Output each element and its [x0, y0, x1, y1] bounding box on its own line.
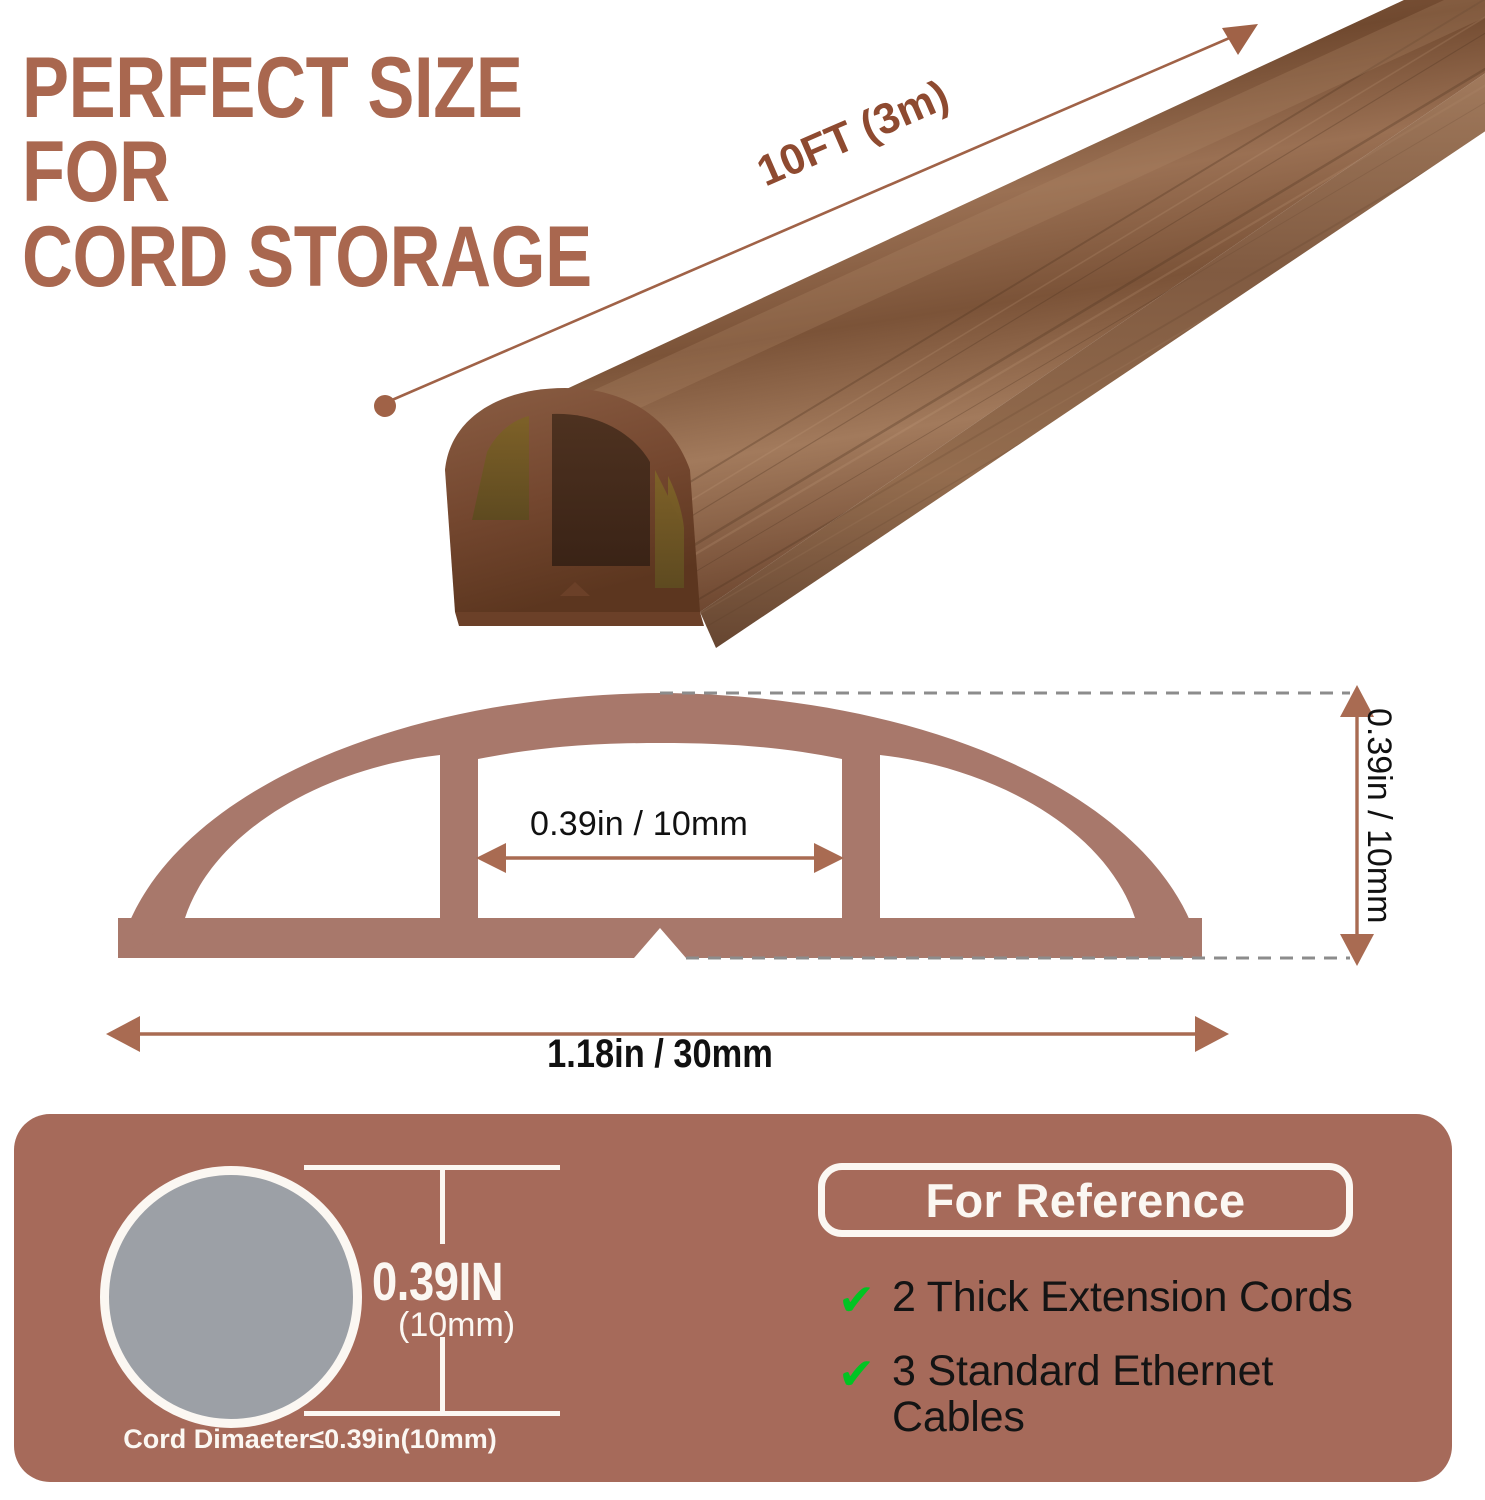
- list-item-label: 2 Thick Extension Cords: [892, 1275, 1353, 1321]
- inner-channel-dimension-label: 0.39in / 10mm: [530, 805, 748, 844]
- inner-width-arrow: [476, 843, 844, 873]
- reference-list: ✔ 2 Thick Extension Cords ✔ 3 Standard E…: [838, 1275, 1438, 1466]
- infographic-canvas: PERFECT SIZE FOR CORD STORAGE: [0, 0, 1485, 1500]
- height-dimension-label: 0.39in / 10mm: [1359, 708, 1398, 923]
- cord-diameter-mm: (10mm): [398, 1306, 515, 1345]
- cord-diameter-caption: Cord Dimaeter≤0.39in(10mm): [60, 1424, 560, 1455]
- list-item: ✔ 3 Standard Ethernet Cables: [838, 1349, 1438, 1440]
- cross-section-diagram: [0, 655, 1485, 1085]
- measure-bracket-upper-stem: [440, 1165, 445, 1244]
- measure-bracket-top: [304, 1165, 560, 1170]
- for-reference-badge: For Reference: [818, 1163, 1353, 1237]
- product-photo: 10FT (3m): [0, 0, 1485, 670]
- list-item-label: 3 Standard Ethernet Cables: [892, 1349, 1273, 1440]
- measure-bracket-lower-stem: [440, 1337, 445, 1416]
- check-icon: ✔: [838, 1279, 892, 1323]
- measure-bracket-bottom: [304, 1411, 560, 1416]
- for-reference-label: For Reference: [926, 1177, 1246, 1224]
- cord-diameter-circle: [100, 1166, 362, 1428]
- cord-diameter-inches: 0.39IN: [372, 1251, 503, 1313]
- width-dimension-label: 1.18in / 30mm: [92, 1032, 1227, 1077]
- check-icon: ✔: [838, 1353, 892, 1397]
- list-item: ✔ 2 Thick Extension Cords: [838, 1275, 1438, 1323]
